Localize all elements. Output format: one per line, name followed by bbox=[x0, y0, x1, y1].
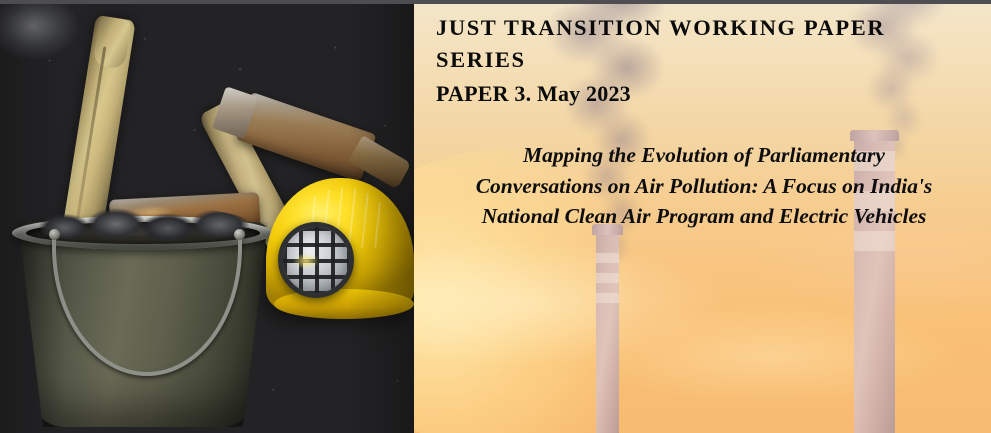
smokestack-left-band bbox=[596, 293, 619, 303]
coal-in-bucket bbox=[34, 206, 250, 242]
smokestack-left-band bbox=[596, 273, 619, 283]
smokestack-left-band bbox=[596, 253, 619, 263]
smokestack-left bbox=[596, 231, 619, 433]
title-line-1: Mapping the Evolution of Parliamentary bbox=[434, 140, 974, 171]
page-title: Mapping the Evolution of Parliamentary C… bbox=[434, 140, 974, 232]
paper-number-date: PAPER 3. May 2023 bbox=[436, 78, 976, 109]
top-border-strip bbox=[0, 0, 991, 4]
smokestack-right-band bbox=[854, 231, 895, 251]
series-heading-block: JUST TRANSITION WORKING PAPER SERIES PAP… bbox=[436, 12, 976, 109]
title-line-2: Conversations on Air Pollution: A Focus … bbox=[434, 171, 974, 202]
series-heading-text: JUST TRANSITION WORKING PAPER SERIES bbox=[436, 15, 885, 72]
title-line-3: National Clean Air Program and Electric … bbox=[434, 201, 974, 232]
working-paper-cover: JUST TRANSITION WORKING PAPER SERIES PAP… bbox=[0, 0, 991, 433]
hard-hat-lamp-icon bbox=[278, 222, 354, 298]
coal-mining-photo bbox=[0, 0, 414, 433]
smokestack-sunset-photo: JUST TRANSITION WORKING PAPER SERIES PAP… bbox=[414, 0, 991, 433]
